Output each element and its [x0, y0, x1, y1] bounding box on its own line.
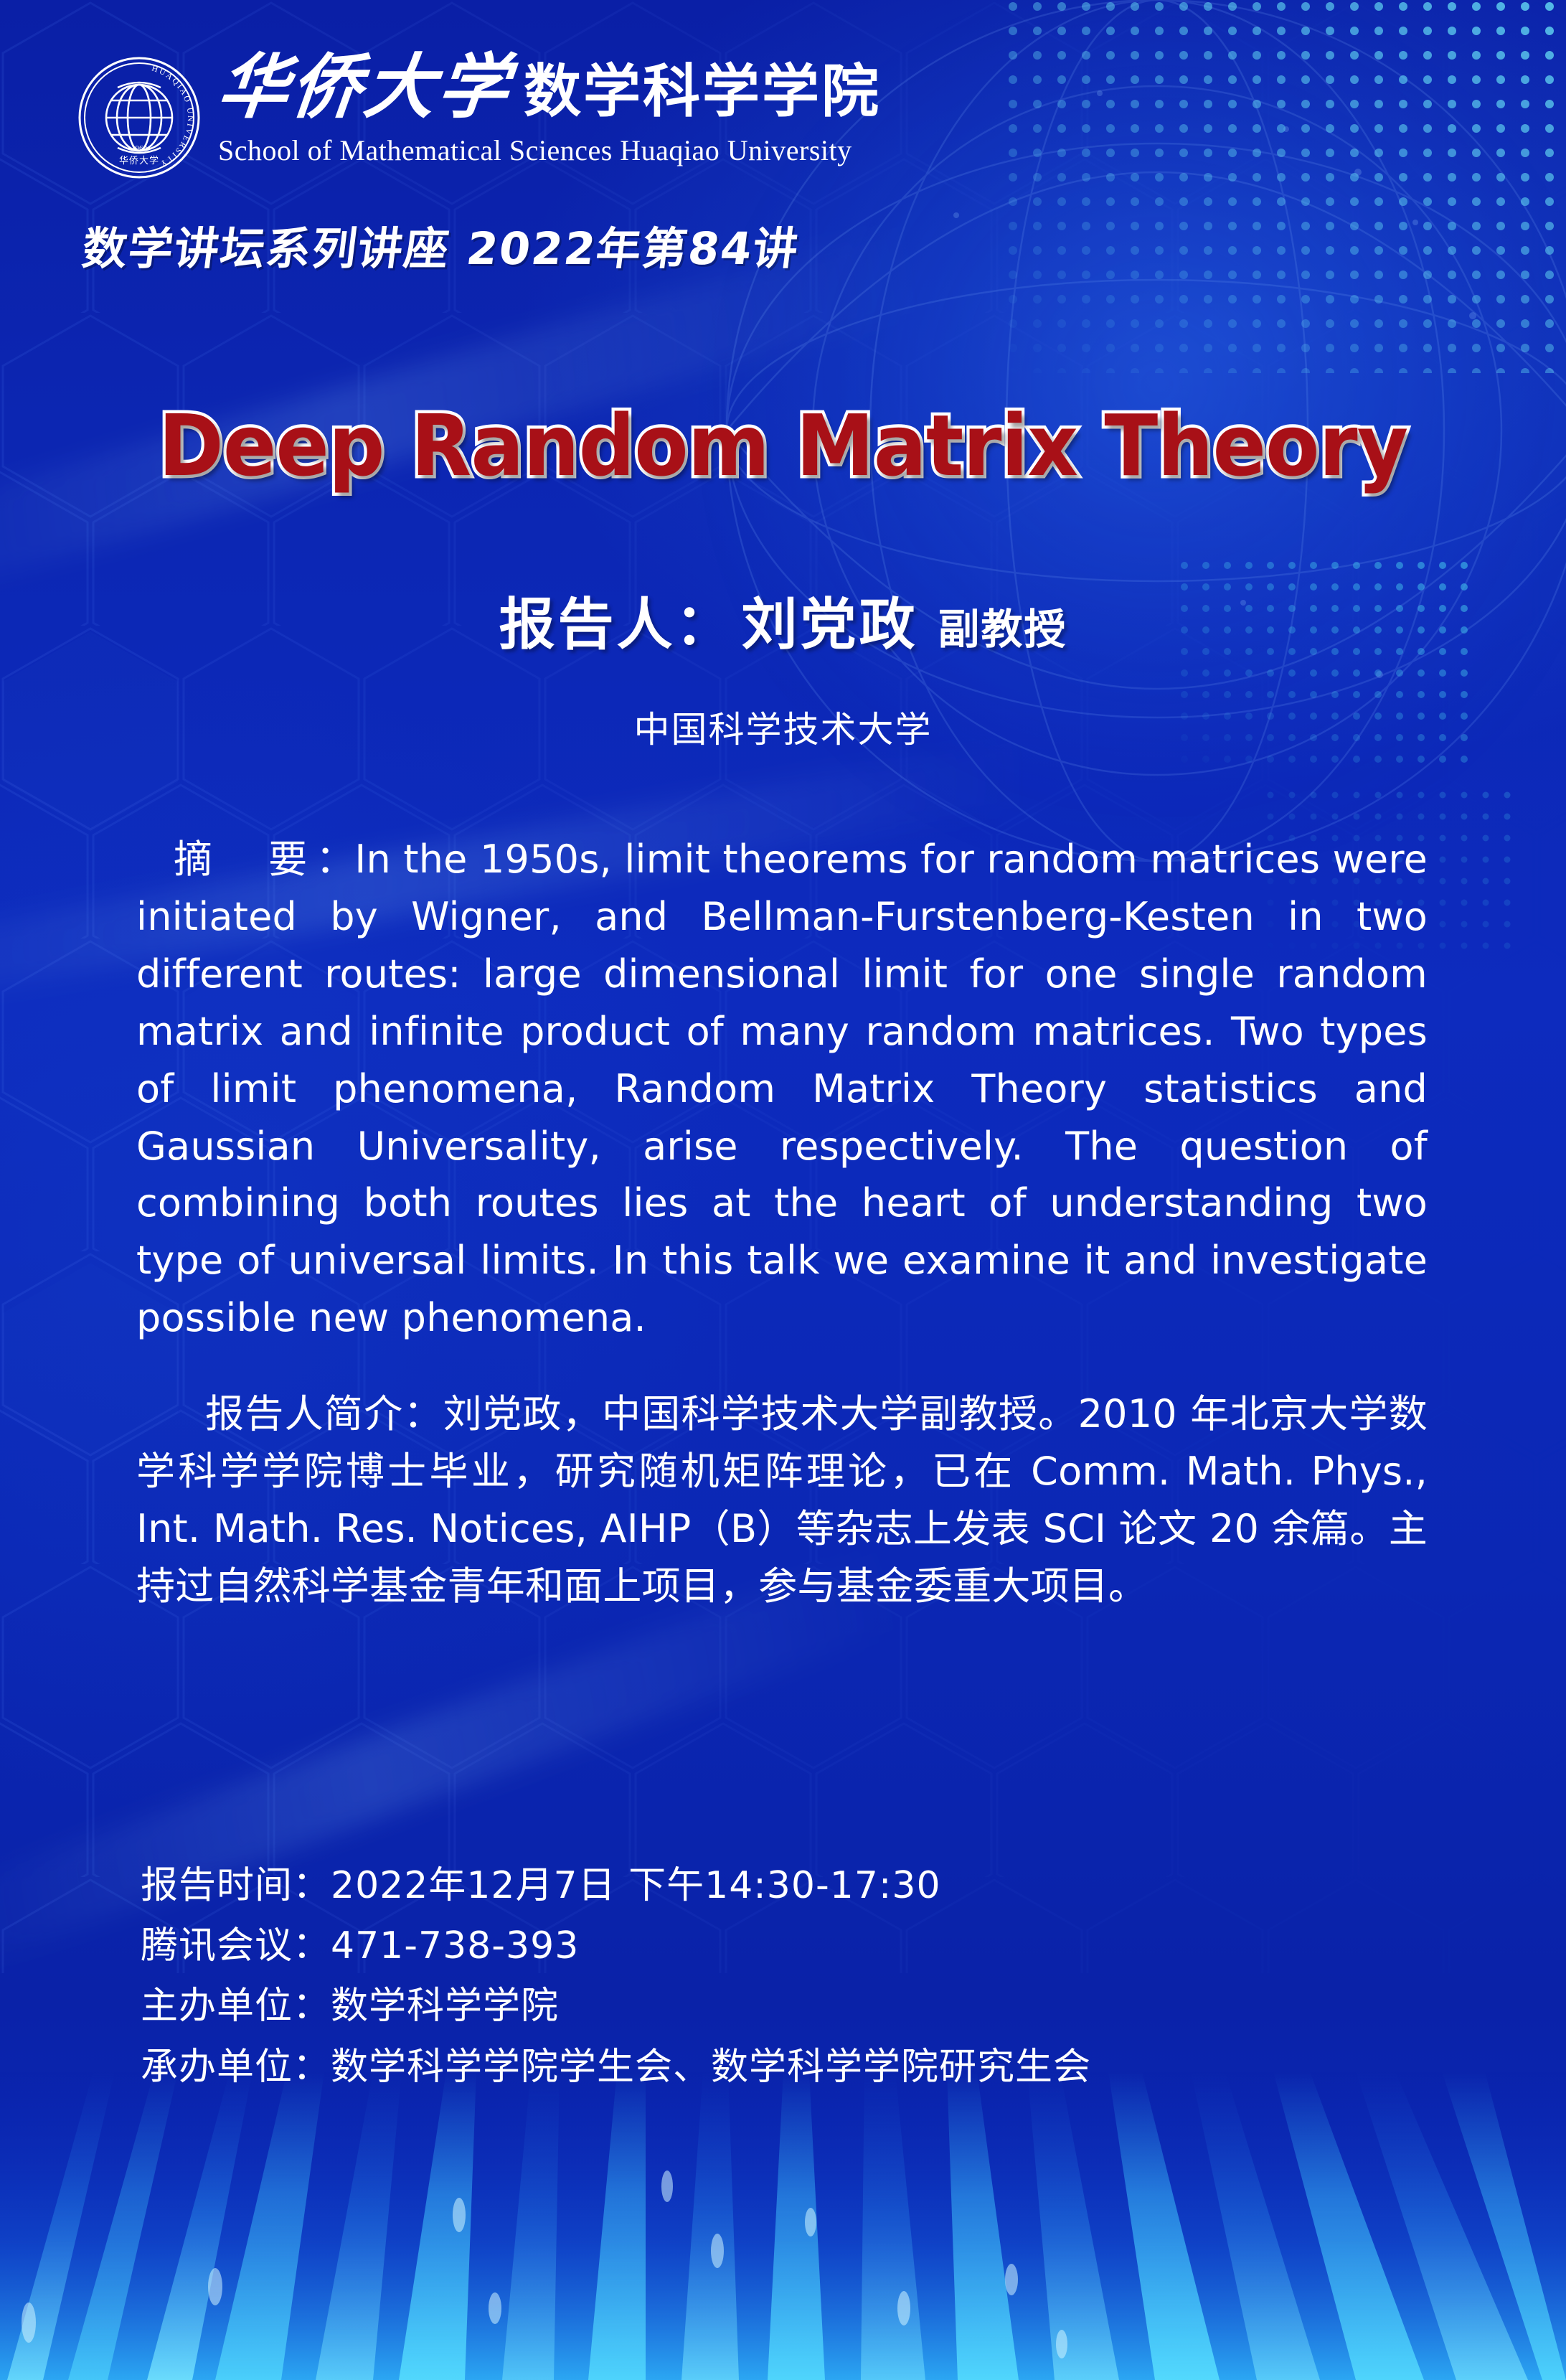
- detail-row-meeting-id: 腾讯会议：471-738-393: [141, 1916, 1091, 1976]
- speaker-affiliation: 中国科学技术大学: [0, 701, 1566, 753]
- school-name-en: School of Mathematical Sciences Huaqiao …: [218, 133, 881, 167]
- speaker-line: 报告人：刘党政副教授: [0, 580, 1566, 660]
- brand-header: HUAQIAO UNIVERSITY 1960 华侨大学 华侨大学 数学科学学院…: [77, 53, 881, 179]
- university-name-cn: 华侨大学: [214, 53, 514, 123]
- speaker-label: 报告人：: [499, 593, 734, 657]
- speaker-rank: 副教授: [938, 605, 1067, 654]
- poster-canvas: HUAQIAO UNIVERSITY 1960 华侨大学 华侨大学 数学科学学院…: [0, 0, 1566, 2380]
- svg-text:华侨大学: 华侨大学: [119, 155, 159, 166]
- brand-wordmark: 华侨大学 数学科学学院 School of Mathematical Scien…: [218, 53, 881, 167]
- event-details-block: 报告时间：2022年12月7日 下午14:30-17:30 腾讯会议：471-7…: [141, 1855, 1091, 2097]
- brand-chinese-line: 华侨大学 数学科学学院: [218, 53, 881, 123]
- speaker-name: 刘党政: [741, 593, 918, 657]
- school-name-cn: 数学科学学院: [524, 63, 881, 121]
- body-text-block: 摘 要：In the 1950s, limit theorems for ran…: [136, 792, 1428, 1654]
- abstract-label-separator: ：: [316, 837, 354, 882]
- huaqiao-university-seal-icon: HUAQIAO UNIVERSITY 1960 华侨大学: [77, 56, 201, 179]
- abstract-paragraph: 摘 要：In the 1950s, limit theorems for ran…: [136, 831, 1428, 1347]
- lecture-series-label: 数学讲坛系列讲座 2022年第84讲: [79, 212, 803, 277]
- biography-paragraph: 报告人简介：刘党政，中国科学技术大学副教授。2010 年北京大学数学科学学院博士…: [136, 1386, 1428, 1615]
- abstract-text: In the 1950s, limit theorems for random …: [136, 837, 1428, 1340]
- svg-text:1960: 1960: [131, 144, 148, 153]
- abstract-label: 摘 要: [174, 837, 316, 882]
- detail-row-co-organizer: 承办单位：数学科学学院学生会、数学科学学院研究生会: [141, 2037, 1091, 2097]
- poster-title: Deep Random Matrix Theory: [55, 402, 1511, 491]
- detail-row-organizer: 主办单位：数学科学学院: [141, 1976, 1091, 2036]
- detail-row-time: 报告时间：2022年12月7日 下午14:30-17:30: [141, 1855, 1091, 1916]
- poster-content: HUAQIAO UNIVERSITY 1960 华侨大学 华侨大学 数学科学学院…: [0, 0, 1566, 2380]
